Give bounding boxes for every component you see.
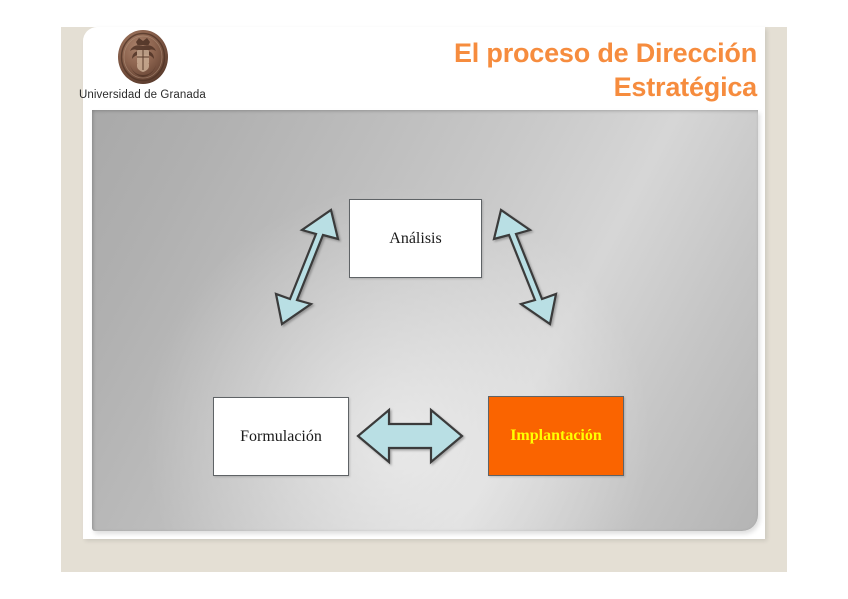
page-title-line-1: El proceso de Dirección (297, 36, 757, 70)
node-analisis[interactable]: Análisis (349, 199, 482, 278)
node-formulacion[interactable]: Formulación (213, 397, 349, 476)
connector-analisis-implantacion (494, 210, 556, 324)
process-diagram: Análisis Formulación Implantación (92, 110, 758, 531)
institution-name: Universidad de Granada (79, 89, 206, 101)
slide-canvas: Análisis Formulación Implantación (92, 110, 758, 531)
diagram-connectors (92, 110, 758, 531)
connector-formulacion-analisis (276, 210, 338, 324)
university-of-granada-seal-icon (116, 29, 170, 85)
node-implantacion[interactable]: Implantación (488, 396, 624, 476)
page-title-line-2: Estratégica (297, 70, 757, 104)
slide-header: Universidad de Granada El proceso de Dir… (83, 27, 765, 110)
page-title: El proceso de Dirección Estratégica (297, 36, 757, 105)
slide-card: Universidad de Granada El proceso de Dir… (83, 27, 765, 539)
connector-formulacion-implantacion (358, 410, 462, 462)
